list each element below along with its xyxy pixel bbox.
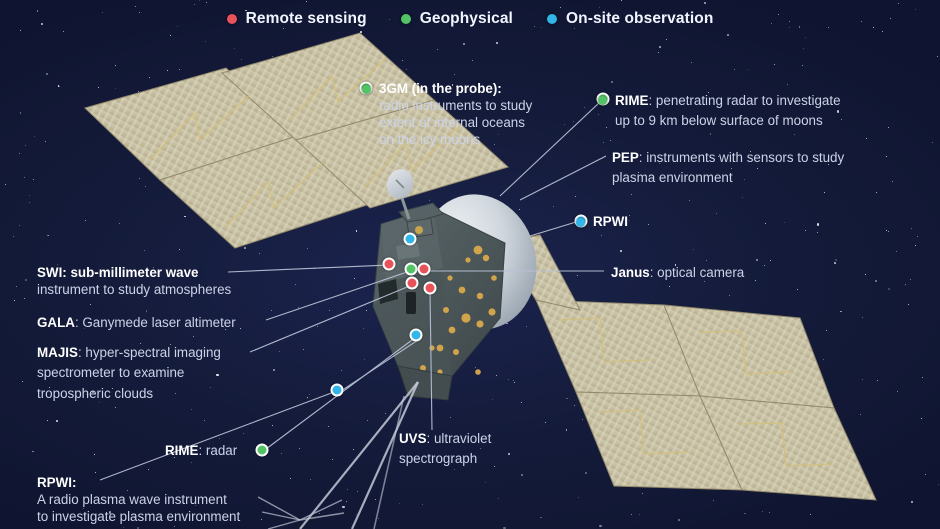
star [25, 279, 27, 281]
star [20, 30, 21, 31]
star [32, 451, 34, 453]
star [328, 426, 329, 427]
star [219, 438, 220, 439]
annotation-rime-left: RIME: radar [165, 441, 237, 461]
star [85, 220, 86, 221]
annotation-text: RIME: radar [165, 441, 237, 461]
star [303, 349, 304, 350]
star [364, 359, 365, 360]
star [498, 498, 499, 499]
star [204, 100, 205, 101]
star [862, 379, 863, 380]
star [194, 4, 195, 5]
star [653, 432, 654, 433]
star [146, 310, 148, 312]
star [234, 48, 235, 49]
legend-item-geophysical[interactable]: Geophysical [401, 10, 513, 28]
marker-gala-icon [405, 263, 418, 276]
star [284, 98, 285, 99]
star [342, 506, 344, 508]
star [687, 314, 688, 315]
star [575, 196, 576, 197]
annotation-rime-top: RIME: penetrating radar to investigate u… [598, 91, 938, 132]
star [375, 499, 376, 500]
star [22, 381, 23, 382]
star [307, 248, 308, 249]
star [704, 2, 706, 4]
legend-item-on-site-observation[interactable]: On-site observation [547, 10, 713, 28]
star [244, 247, 246, 249]
star [401, 158, 403, 160]
annotation-title: PEP [612, 150, 639, 165]
star [717, 424, 718, 425]
star [406, 69, 407, 70]
star [594, 358, 595, 359]
category-dot-icon [362, 85, 371, 94]
star [765, 223, 766, 224]
star [340, 108, 341, 109]
star [577, 275, 578, 276]
star [805, 37, 806, 38]
star [762, 511, 763, 512]
star [56, 420, 58, 422]
star [283, 28, 284, 29]
annotation-title: UVS [399, 431, 427, 446]
star [339, 201, 341, 203]
star [314, 268, 315, 269]
annotation-body: : radar [198, 443, 237, 458]
star [917, 236, 918, 237]
star [5, 184, 6, 185]
star [875, 280, 877, 282]
star [727, 34, 729, 36]
star [354, 278, 355, 279]
star [356, 514, 357, 515]
star [408, 386, 409, 387]
star [298, 307, 299, 308]
star [742, 197, 743, 198]
legend-dot-icon [401, 14, 411, 24]
star [319, 134, 320, 135]
star [131, 98, 132, 99]
star [639, 514, 640, 515]
star [385, 77, 386, 78]
star [335, 40, 336, 41]
annotation-title: MAJIS [37, 345, 78, 360]
star [810, 514, 811, 515]
star [409, 219, 411, 221]
star [135, 6, 136, 7]
star [24, 177, 25, 178]
star [25, 145, 26, 146]
star [45, 141, 46, 142]
star [149, 77, 150, 78]
star [206, 2, 207, 3]
star [366, 310, 367, 311]
star [255, 176, 256, 177]
star [179, 249, 180, 250]
legend-label: Geophysical [420, 10, 513, 28]
star [817, 223, 819, 225]
star [199, 0, 200, 1]
star [138, 91, 139, 92]
star [389, 341, 390, 342]
star [755, 280, 756, 281]
star [47, 235, 48, 236]
annotation-title: RPWI: [37, 474, 297, 491]
star [566, 398, 568, 400]
star [729, 295, 730, 296]
star [450, 417, 451, 418]
star [397, 322, 398, 323]
star [454, 74, 455, 75]
star [496, 42, 498, 44]
star [488, 201, 490, 203]
category-dot-icon [598, 96, 607, 105]
star [718, 335, 720, 337]
star [329, 310, 330, 311]
star [865, 274, 866, 275]
annotation-body: radio instruments to study extent of int… [379, 97, 532, 148]
star [731, 353, 733, 355]
star [716, 213, 717, 214]
star [145, 186, 146, 187]
star [794, 134, 795, 135]
star [293, 185, 294, 186]
star [925, 474, 926, 475]
star [58, 85, 60, 87]
star [378, 518, 379, 519]
star [662, 470, 664, 472]
star [481, 164, 482, 165]
star [620, 250, 622, 252]
star [508, 379, 509, 380]
star [521, 474, 523, 476]
spacecraft-bus [373, 203, 505, 400]
annotation-swi: SWI: sub-millimeter wave instrument to s… [37, 264, 287, 298]
star [799, 454, 800, 455]
star [937, 56, 938, 57]
star [115, 407, 116, 408]
category-dot-icon [576, 218, 585, 227]
star [399, 503, 400, 504]
star [585, 472, 587, 474]
star [191, 409, 192, 410]
star [631, 194, 632, 195]
star [922, 377, 923, 378]
star [495, 254, 496, 255]
star [734, 69, 735, 70]
star [29, 195, 30, 196]
star [259, 253, 260, 254]
star [824, 192, 825, 193]
star [601, 235, 602, 236]
annotation-text: RIME: penetrating radar to investigate u… [615, 91, 841, 132]
star [243, 433, 244, 434]
star [728, 489, 729, 490]
star [312, 195, 313, 196]
star [578, 497, 579, 498]
annotation-text: Janus: optical camera [611, 263, 744, 283]
star [427, 276, 428, 277]
annotation-janus: Janus: optical camera [611, 263, 744, 283]
star [795, 394, 796, 395]
star [492, 399, 493, 400]
star [115, 88, 116, 89]
star [659, 46, 661, 48]
annotation-rpwi-right: RPWI [576, 213, 628, 230]
star [803, 48, 804, 49]
annotation-body: : Ganymede laser altimeter [75, 315, 236, 330]
star [249, 237, 251, 239]
annotation-text: PEP: instruments with sensors to study p… [612, 148, 940, 189]
star [756, 259, 758, 261]
star [139, 178, 140, 179]
star [618, 308, 619, 309]
star [317, 326, 318, 327]
star [744, 513, 746, 515]
star [658, 52, 659, 53]
star [316, 216, 317, 217]
star [774, 342, 776, 344]
star [295, 284, 296, 285]
star [332, 459, 333, 460]
star [911, 228, 912, 229]
star [460, 331, 461, 332]
star [347, 489, 348, 490]
star [882, 31, 883, 32]
star [566, 429, 568, 431]
annotation-majis: MAJIS: hyper-spectral imaging spectromet… [37, 343, 277, 404]
star [204, 420, 205, 421]
star [540, 517, 542, 519]
star [625, 479, 626, 480]
star [319, 513, 320, 514]
star [59, 86, 60, 87]
annotation-body: : optical camera [650, 265, 745, 280]
star [463, 43, 465, 45]
star [805, 230, 806, 231]
star [720, 482, 721, 483]
legend-item-remote-sensing[interactable]: Remote sensing [227, 10, 367, 28]
marker-janus-icon [418, 263, 431, 276]
star [774, 64, 775, 65]
star [629, 215, 631, 217]
star [350, 385, 351, 386]
star [860, 414, 861, 415]
star [519, 289, 520, 290]
annotation-text: MAJIS: hyper-spectral imaging spectromet… [37, 343, 277, 404]
star [599, 7, 600, 8]
star [763, 475, 764, 476]
star [24, 298, 25, 299]
star [272, 425, 273, 426]
star [47, 420, 48, 421]
annotation-text: GALA: Ganymede laser altimeter [37, 313, 287, 333]
star [241, 59, 242, 60]
star [594, 377, 595, 378]
star [704, 435, 705, 436]
annotation-text: UVS: ultraviolet spectrograph [399, 429, 559, 470]
star [862, 317, 863, 318]
star [506, 323, 508, 325]
annotation-title: RIME [165, 443, 198, 458]
star [669, 286, 670, 287]
star [268, 106, 270, 108]
star [257, 420, 258, 421]
star [797, 289, 798, 290]
star [639, 366, 640, 367]
star [610, 140, 611, 141]
star [157, 156, 158, 157]
star [279, 351, 280, 352]
star [826, 330, 827, 331]
star [34, 136, 35, 137]
star [367, 420, 368, 421]
star [193, 336, 194, 337]
star [682, 385, 683, 386]
star [582, 329, 583, 330]
star [205, 41, 206, 42]
star [424, 393, 425, 394]
star [588, 308, 589, 309]
star [143, 127, 145, 129]
star [560, 7, 561, 8]
star [184, 216, 186, 218]
legend: Remote sensing Geophysical On-site obser… [0, 10, 940, 28]
star [148, 469, 149, 470]
star [357, 491, 358, 492]
star [629, 220, 630, 221]
star [200, 82, 201, 83]
star [315, 204, 317, 206]
marker-rime-left-icon [256, 444, 269, 457]
star [835, 259, 837, 261]
star [877, 380, 878, 381]
star [621, 0, 622, 1]
star [876, 192, 877, 193]
star [294, 223, 295, 224]
star [658, 356, 659, 357]
star [295, 76, 296, 77]
star [802, 65, 803, 66]
star [784, 222, 785, 223]
star [764, 265, 765, 266]
star [29, 202, 30, 203]
star [642, 493, 643, 494]
annotation-pep: PEP: instruments with sensors to study p… [612, 148, 940, 189]
star [301, 145, 302, 146]
star [257, 113, 259, 115]
legend-dot-icon [547, 14, 557, 24]
star [582, 419, 583, 420]
star [493, 235, 494, 236]
star [454, 350, 455, 351]
star [63, 31, 64, 32]
star [334, 54, 335, 55]
star [681, 361, 682, 362]
star [94, 454, 95, 455]
star [298, 129, 299, 130]
legend-dot-icon [227, 14, 237, 24]
star [119, 223, 120, 224]
star [761, 339, 762, 340]
star [693, 249, 694, 250]
star [363, 328, 364, 329]
marker-uvs-icon [424, 282, 437, 295]
annotation-uvs: UVS: ultraviolet spectrograph [399, 429, 559, 470]
star [90, 304, 91, 305]
legend-label: On-site observation [566, 10, 713, 28]
star [272, 56, 273, 57]
marker-rpwi-boom-icon [331, 384, 344, 397]
star [611, 81, 613, 83]
star [341, 370, 342, 371]
star [896, 251, 897, 252]
star [310, 479, 311, 480]
star [840, 311, 842, 313]
star [666, 39, 667, 40]
star [251, 220, 252, 221]
star [707, 361, 708, 362]
star [574, 28, 575, 29]
marker-rpwi-upper-icon [404, 233, 417, 246]
star [521, 402, 522, 403]
star [574, 405, 575, 406]
legend-label: Remote sensing [246, 10, 367, 28]
star [514, 222, 515, 223]
star [281, 453, 282, 454]
star [525, 282, 526, 283]
star [356, 230, 358, 232]
annotation-3gm: 3GM (in the probe): radio instruments to… [362, 80, 592, 149]
marker-rpwi-lower-icon [410, 329, 423, 342]
annotation-title: SWI: sub-millimeter wave [37, 264, 287, 281]
star [153, 152, 154, 153]
star [631, 514, 632, 515]
star [95, 472, 96, 473]
star [910, 279, 911, 280]
annotation-body: : instruments with sensors to study plas… [612, 150, 844, 185]
star [513, 380, 514, 381]
infographic-canvas: Remote sensing Geophysical On-site obser… [0, 0, 940, 529]
annotation-body: : penetrating radar to investigate up to… [615, 93, 841, 128]
star [710, 133, 712, 135]
star [908, 304, 909, 305]
star [678, 519, 680, 521]
star [811, 368, 813, 370]
star [769, 512, 770, 513]
annotation-title: Janus [611, 265, 650, 280]
star [747, 69, 748, 70]
star [19, 225, 20, 226]
medium-gain-antenna [383, 166, 417, 219]
star [309, 394, 311, 396]
star [325, 42, 326, 43]
star [16, 286, 17, 287]
star [787, 84, 788, 85]
star [648, 224, 649, 225]
star [932, 142, 933, 143]
star [553, 206, 554, 207]
star [319, 143, 320, 144]
star [14, 300, 15, 301]
star [713, 500, 714, 501]
star [496, 375, 497, 376]
annotation-gala: GALA: Ganymede laser altimeter [37, 313, 287, 333]
star [403, 158, 404, 159]
annotation-title: 3GM (in the probe): [379, 80, 532, 97]
